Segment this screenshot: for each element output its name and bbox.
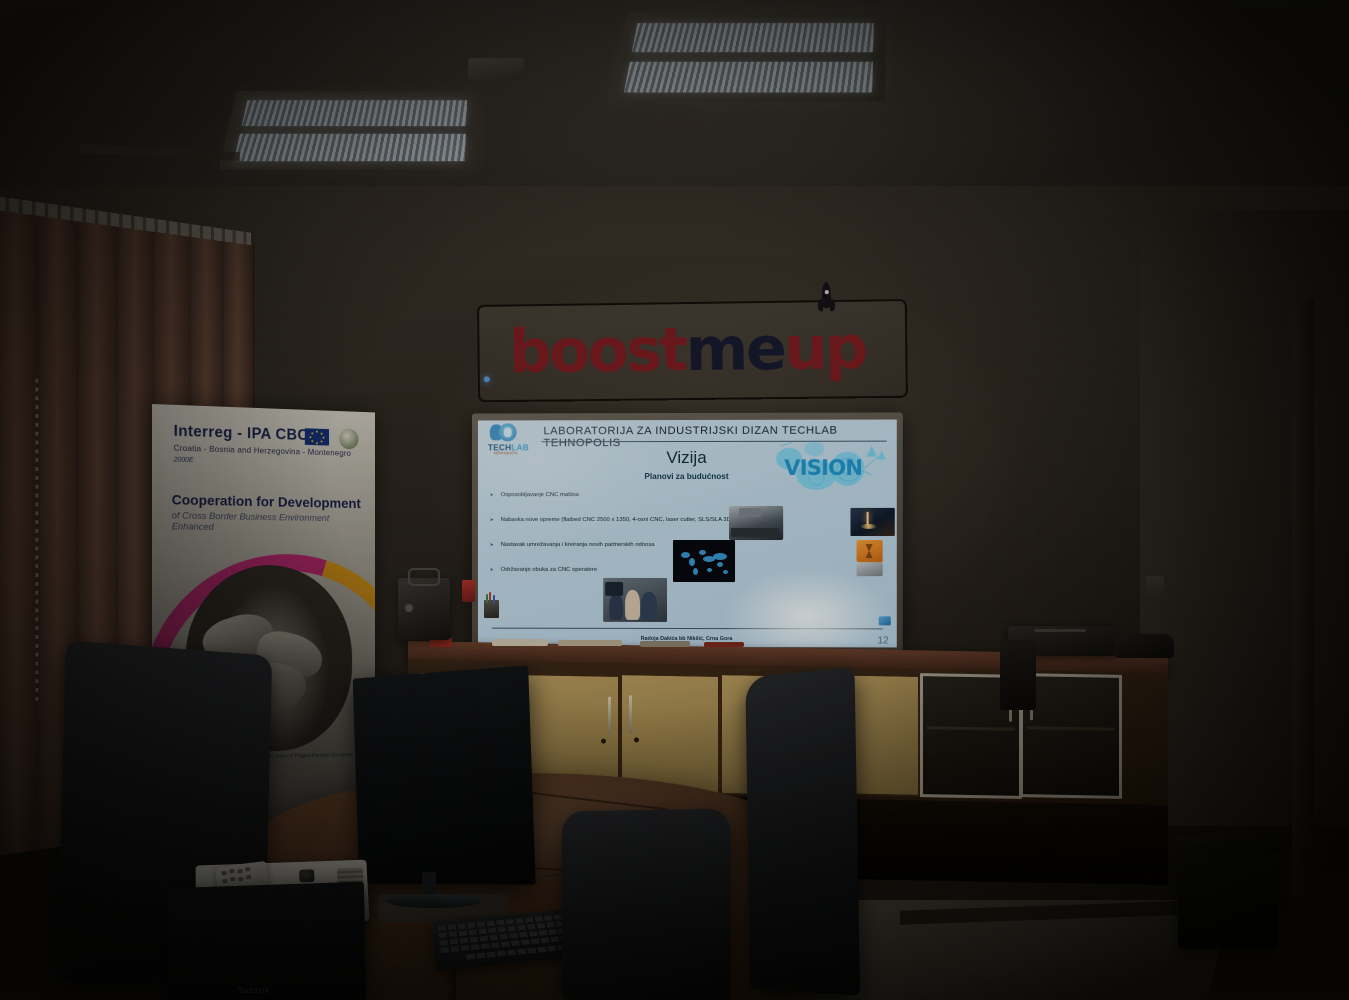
whiteboard-marker[interactable] — [492, 639, 548, 646]
office-chair[interactable] — [562, 809, 730, 1000]
presentation-slide[interactable]: TECHLAB tehnopolis LABORATORIJA ZA INDUS… — [478, 420, 897, 648]
laptop-display[interactable] — [168, 882, 366, 1000]
techlab-gear-icon — [499, 423, 517, 441]
red-marker[interactable] — [704, 642, 744, 647]
laptop-brand-label: Suzovik — [238, 986, 270, 995]
coffee-machine-handle — [408, 568, 440, 586]
waste-bin — [1178, 845, 1278, 949]
sla-3d-printer-photo — [857, 540, 883, 576]
door-frame — [1292, 300, 1314, 900]
laser-cutting-photo — [850, 508, 894, 536]
ceiling-light-fixture-right — [609, 13, 887, 102]
monitor-stand-base — [386, 894, 482, 908]
monitor-screen[interactable] — [353, 665, 536, 884]
laptop-screen[interactable]: Suzovik — [164, 885, 364, 1000]
light-louver — [241, 100, 466, 126]
vision-text: VISION — [784, 456, 862, 480]
red-cup — [462, 580, 475, 602]
coffee-machine[interactable] — [398, 578, 450, 640]
slide-footer-rule — [492, 628, 883, 630]
light-louver — [632, 23, 873, 52]
meeting-room-photo: Interreg - IPA CBC Croatia - Bosnia and … — [0, 0, 1349, 1000]
cnc-router-photo — [729, 506, 783, 540]
black-bag — [1114, 634, 1174, 658]
wall-socket-icon — [1146, 576, 1164, 598]
blind-slat — [0, 210, 40, 856]
vision-wordart: VISION — [774, 438, 891, 496]
sign-word-up: up — [784, 313, 866, 384]
smoke-detector-icon — [468, 58, 524, 80]
whiteboard-eraser[interactable] — [640, 641, 690, 647]
sign-wordmark: boostmeup — [509, 312, 867, 388]
projection-screen[interactable]: TECHLAB tehnopolis LABORATORIJA ZA INDUS… — [478, 420, 897, 648]
slide-bullet: Osposobljavanje CNC mašina — [490, 492, 789, 500]
projector-lens — [299, 869, 314, 882]
status-led-icon — [484, 376, 490, 382]
coffee-machine-knob[interactable] — [405, 604, 413, 612]
cnc-training-people-photo — [603, 578, 667, 622]
world-network-map-photo — [673, 540, 735, 582]
light-louver — [233, 134, 465, 161]
slide-page-number: 12 — [878, 635, 889, 646]
rocket-icon — [818, 282, 836, 318]
wall-equipment-box — [1000, 640, 1036, 710]
boostmeup-sign: boostmeup — [477, 299, 908, 402]
whiteboard-marker[interactable] — [558, 640, 622, 646]
office-chair[interactable] — [745, 667, 860, 996]
slide-badge-icon — [879, 616, 891, 625]
slide-bullet: Održavanje obuka za CNC operatere — [490, 566, 789, 574]
waste-bin-lid — [1174, 837, 1282, 853]
pen-holder — [484, 600, 499, 618]
ceiling-light-fixture-left — [219, 91, 479, 169]
right-wall — [1140, 210, 1349, 860]
blind-chain[interactable] — [35, 379, 38, 703]
slide-bullet: Nastavak umrežavanja i kreiranja novih p… — [490, 542, 789, 549]
desktop-monitor[interactable] — [350, 672, 532, 908]
sign-word-boost: boost — [509, 315, 686, 387]
sign-word-me: me — [685, 314, 784, 385]
light-louver — [624, 61, 872, 92]
